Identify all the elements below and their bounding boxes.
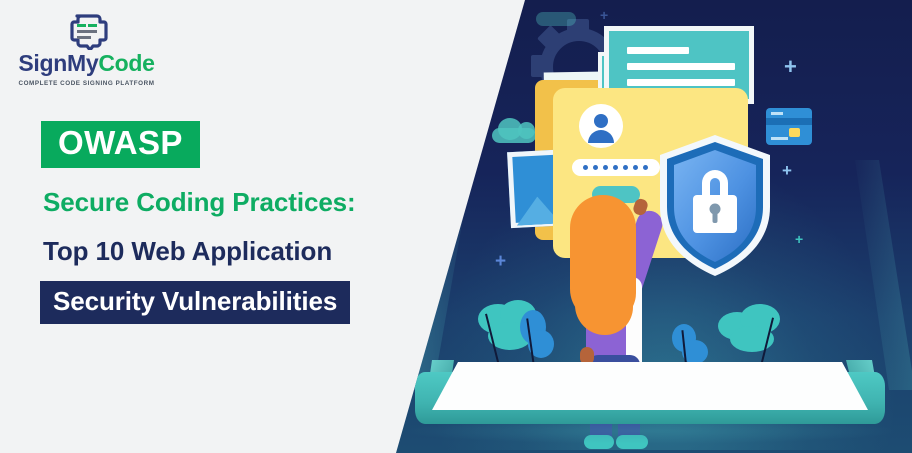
headline-line-3: Top 10 Web Application bbox=[43, 236, 332, 267]
shield-lock-icon bbox=[655, 133, 775, 278]
logo-wordmark: SignMyCode bbox=[14, 52, 159, 75]
password-dot bbox=[613, 165, 618, 170]
plus-icon: + bbox=[784, 56, 797, 78]
logo-word-signmy: SignMy bbox=[18, 50, 98, 76]
password-dot bbox=[643, 165, 648, 170]
plus-icon: + bbox=[782, 162, 792, 179]
code-speech-bubble-icon bbox=[65, 14, 109, 50]
cloud-icon bbox=[536, 12, 576, 26]
password-dot bbox=[593, 165, 598, 170]
person-hair bbox=[575, 259, 633, 335]
credit-card-chip bbox=[789, 128, 800, 137]
logo[interactable]: SignMyCode COMPLETE CODE SIGNING PLATFOR… bbox=[14, 14, 159, 87]
owasp-badge-label: OWASP bbox=[58, 126, 183, 161]
owasp-badge: OWASP bbox=[41, 121, 200, 168]
logo-word-code: Code bbox=[98, 50, 154, 76]
credit-card-stripe bbox=[766, 118, 812, 125]
plus-icon: + bbox=[795, 232, 803, 246]
banner: + + + + + bbox=[0, 0, 912, 453]
laptop-screen bbox=[432, 362, 868, 410]
credit-card-line bbox=[771, 112, 783, 115]
logo-tagline: COMPLETE CODE SIGNING PLATFORM bbox=[14, 80, 159, 87]
password-dot bbox=[633, 165, 638, 170]
password-dot bbox=[623, 165, 628, 170]
avatar-head-icon bbox=[594, 114, 608, 128]
cloud-icon bbox=[518, 122, 535, 139]
plus-icon: + bbox=[600, 8, 608, 22]
password-dot bbox=[583, 165, 588, 170]
headline-line-4-box: Security Vulnerabilities bbox=[40, 281, 350, 324]
plus-icon: + bbox=[495, 252, 506, 271]
password-dot bbox=[603, 165, 608, 170]
headline-line-2: Secure Coding Practices: bbox=[43, 187, 356, 218]
headline-line-4: Security Vulnerabilities bbox=[53, 288, 337, 315]
